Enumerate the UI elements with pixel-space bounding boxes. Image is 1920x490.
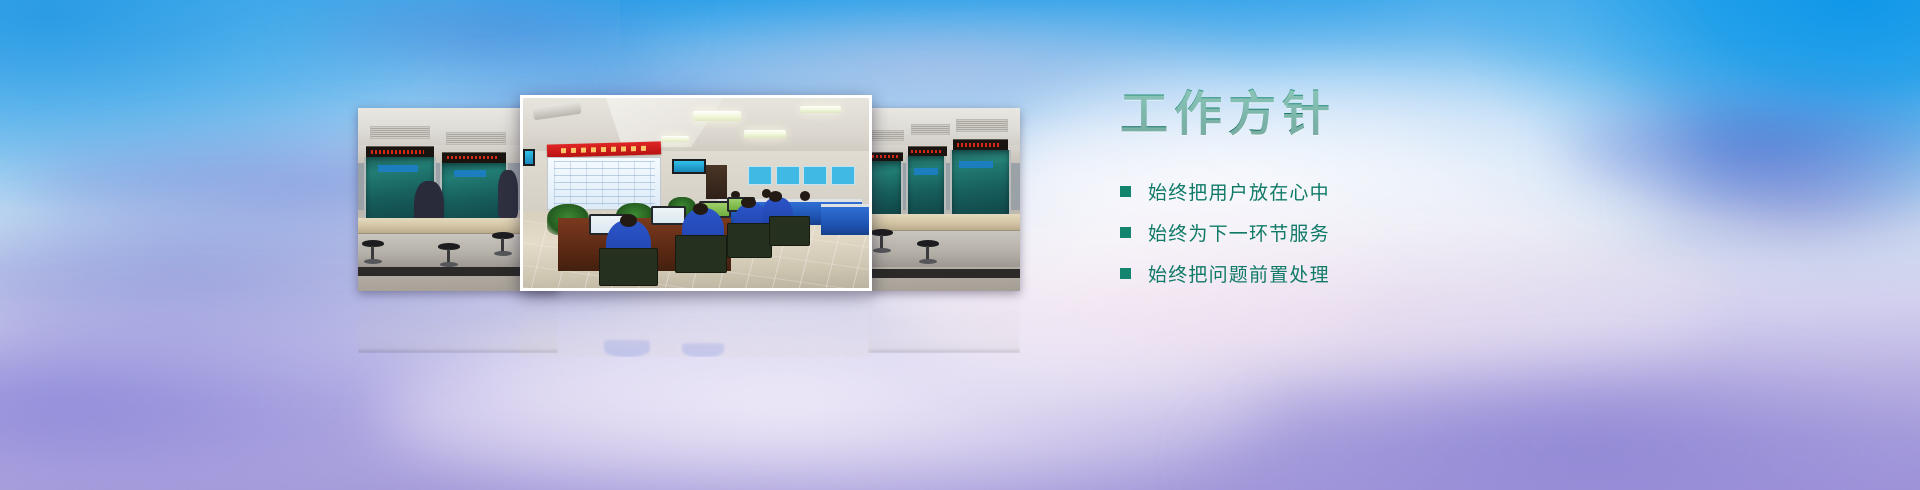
wall-monitor — [672, 159, 707, 174]
page-title: 工作方针 — [1120, 86, 1740, 145]
photo-center-reflection — [520, 293, 872, 357]
red-banner — [547, 141, 661, 157]
list-item: 始终把问题前置处理 — [1120, 263, 1740, 285]
display-wall — [547, 157, 661, 210]
operator-head — [693, 203, 709, 215]
stool — [917, 240, 939, 266]
stool — [871, 229, 893, 255]
led-marquee — [953, 139, 1008, 150]
list-item-label: 始终为下一环节服务 — [1148, 219, 1330, 246]
photo-center[interactable] — [520, 95, 872, 291]
counter-sign — [914, 168, 938, 174]
info-board — [831, 166, 855, 185]
policy-list: 始终把用户放在心中 始终为下一环节服务 始终把问题前置处理 — [1120, 181, 1740, 285]
air-vent — [446, 132, 506, 145]
photo-right-reflection — [868, 293, 1020, 353]
info-board — [803, 166, 827, 185]
photo-right[interactable] — [868, 108, 1020, 291]
chair — [727, 223, 772, 257]
operator-head — [769, 191, 783, 202]
list-item: 始终把用户放在心中 — [1120, 181, 1740, 203]
bullet-square-icon — [1120, 227, 1131, 238]
led-marquee — [366, 146, 434, 157]
stool — [362, 240, 384, 266]
ceiling-light — [744, 130, 786, 138]
teller-glass-bay — [906, 156, 946, 218]
ceiling-light — [661, 136, 689, 142]
chair — [599, 248, 658, 286]
operations-counter — [821, 204, 869, 234]
text-panel: 工作方针 始终把用户放在心中 始终为下一环节服务 始终把问题前置处理 — [1120, 86, 1740, 304]
wall-monitor — [523, 149, 535, 166]
photo-collage — [0, 0, 1100, 420]
counter-sign — [454, 170, 486, 176]
list-item-label: 始终把用户放在心中 — [1148, 178, 1330, 205]
ceiling-light — [800, 106, 842, 114]
led-marquee — [870, 152, 903, 161]
info-board — [748, 166, 772, 185]
chair — [769, 216, 811, 246]
photo-center-scene — [523, 98, 869, 288]
staff-head — [800, 191, 810, 201]
info-board — [776, 166, 800, 185]
list-item: 始终为下一环节服务 — [1120, 222, 1740, 244]
led-marquee — [442, 152, 506, 163]
stool — [492, 232, 514, 258]
door — [706, 165, 727, 199]
desktop-monitor — [651, 206, 686, 225]
list-item-label: 始终把问题前置处理 — [1148, 260, 1330, 287]
ceiling-light — [693, 111, 741, 121]
bullet-square-icon — [1120, 186, 1131, 197]
hero-banner: 工作方针 始终把用户放在心中 始终为下一环节服务 始终把问题前置处理 — [0, 0, 1920, 490]
stool — [438, 243, 460, 269]
bullet-square-icon — [1120, 268, 1131, 279]
counter-sign — [959, 161, 992, 168]
air-vent — [911, 124, 951, 135]
counter-base — [868, 269, 1020, 278]
chair — [675, 235, 727, 273]
photo-right-scene — [868, 108, 1020, 291]
operator-head — [741, 197, 756, 208]
air-vent — [871, 130, 904, 141]
air-vent — [370, 126, 430, 139]
customer-standing — [498, 170, 518, 218]
counter-sign — [378, 165, 418, 172]
air-vent — [956, 119, 1008, 132]
led-marquee — [908, 146, 948, 155]
teller-glass-bay — [868, 161, 903, 218]
